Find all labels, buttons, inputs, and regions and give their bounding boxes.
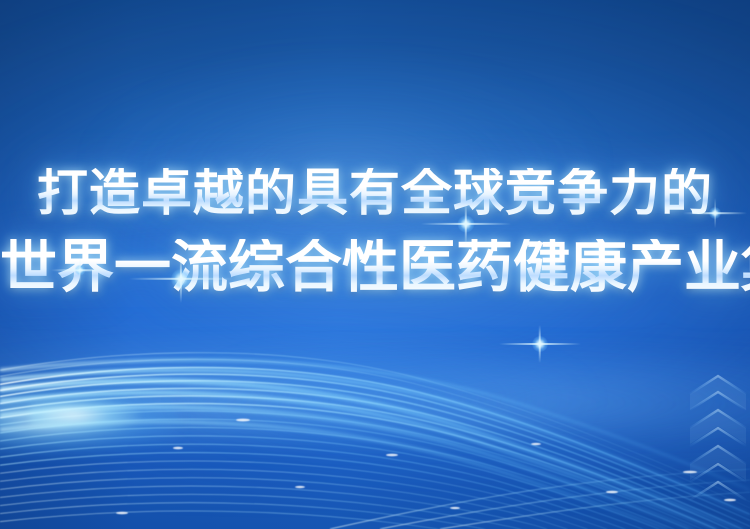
headline-block: 打造卓越的具有全球竞争力的 世界一流综合性医药健康产业集团	[0, 168, 750, 296]
chevron-arrow-stack-icon	[686, 370, 750, 520]
streak-crest-core	[30, 398, 140, 432]
corporate-vision-banner: 打造卓越的具有全球竞争力的 世界一流综合性医药健康产业集团	[0, 0, 750, 529]
headline-line-1: 打造卓越的具有全球竞争力的	[0, 168, 750, 219]
headline-line-2: 世界一流综合性医药健康产业集团	[0, 239, 750, 296]
